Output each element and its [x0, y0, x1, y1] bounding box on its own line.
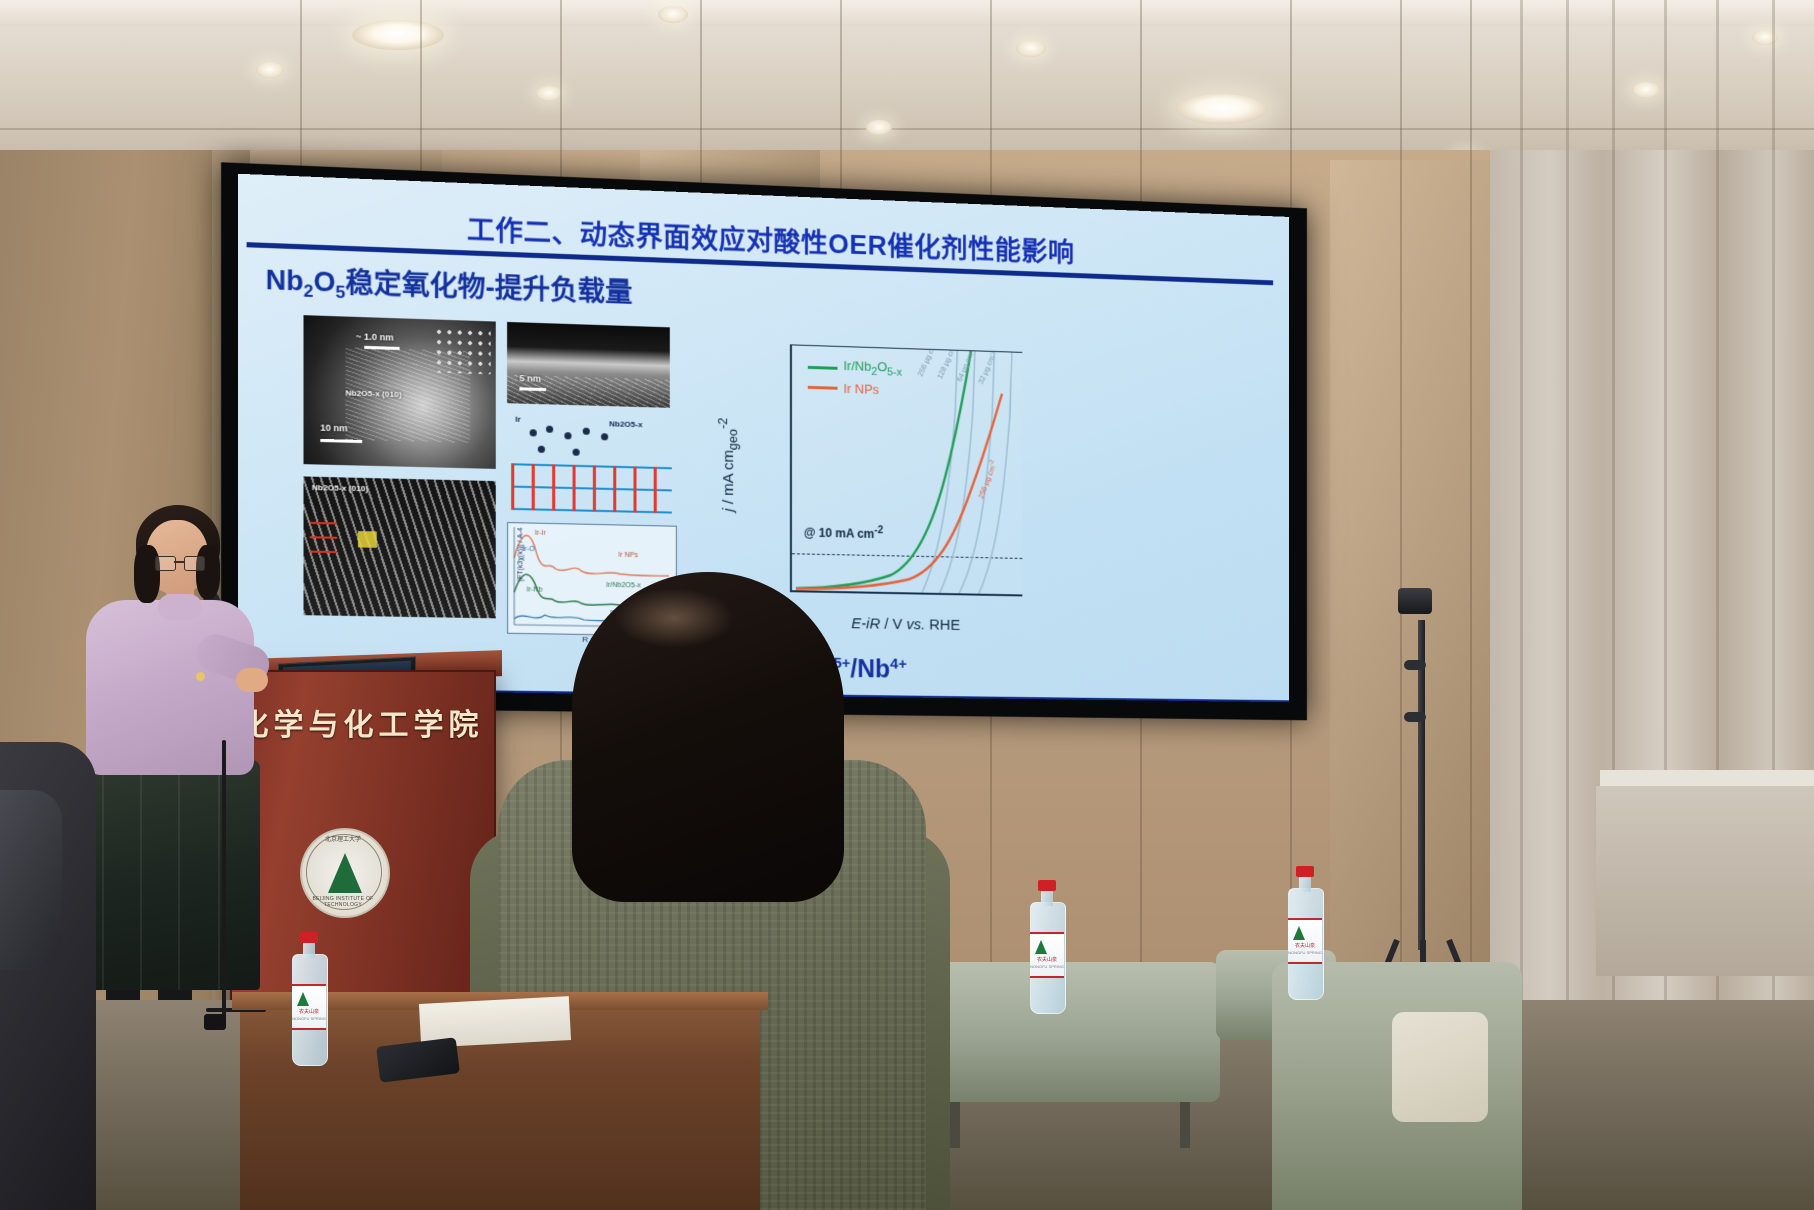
- edge-person-arm: [0, 790, 62, 970]
- ylabel-units: / mA cm: [720, 450, 737, 509]
- slide-subtitle: Nb2O5稳定氧化物-提升负载量: [266, 257, 633, 313]
- tem-image-3: Nb2O5-x (010): [304, 476, 496, 618]
- podium-emblem-cn-text: 北京理工大学: [300, 834, 386, 843]
- chart-ylabel: j / mA cmgeo-2: [716, 417, 740, 512]
- speaker-sweater: [86, 600, 254, 775]
- tem3-phase-label: Nb2O5-x (010): [312, 483, 368, 494]
- tem-image-1: ~ 1.0 nm Nb2O5-x (010) 10 nm: [304, 315, 496, 469]
- bottle-brand-en: NONGFU SPRING: [1030, 964, 1064, 969]
- bottle-label: 农夫山泉 NONGFU SPRING: [292, 984, 326, 1030]
- tem1-phase-label: Nb2O5-x (010): [345, 388, 401, 399]
- speaker-skirt: [74, 760, 260, 990]
- podium-emblem-en-text: BEIJING INSTITUTE OF TECHNOLOGY: [296, 896, 390, 908]
- speaker-brooch: [196, 672, 205, 681]
- bottle-label: 农夫山泉 NONGFU SPRING: [1030, 932, 1064, 978]
- conference-room-photo: 工作二、动态界面效应对酸性OER催化剂性能影响 Nb2O5稳定氧化物-提升负载量…: [0, 0, 1814, 1210]
- ceiling-band: [0, 0, 1814, 26]
- tem2-scale-label: 5 nm: [519, 373, 541, 384]
- speaker-hand: [236, 668, 268, 692]
- subtitle-o: O: [313, 266, 335, 298]
- subtitle-sub-5: 5: [335, 283, 345, 303]
- bottle-brand-en: NONGFU SPRING: [292, 1016, 326, 1021]
- ceiling-light: [1176, 94, 1268, 124]
- speaker-hair-side-left: [134, 545, 160, 603]
- speaker-glasses: [155, 556, 203, 569]
- bench-seat: [920, 962, 1220, 1102]
- bottle-brand-cn: 农夫山泉: [292, 1008, 326, 1015]
- ceiling-light: [1632, 82, 1660, 98]
- tem1-scale-label: 10 nm: [320, 422, 347, 433]
- ceiling-light: [658, 6, 688, 23]
- tem-image-2: 5 nm: [507, 322, 670, 408]
- atomic-structure-model: Ir Nb2O5-x: [511, 414, 674, 519]
- mountain-icon: [1293, 926, 1305, 940]
- audience-hair-highlight: [614, 588, 734, 648]
- window-lower: [1596, 786, 1814, 976]
- camera-mount-head: [1398, 588, 1432, 614]
- bottle-cap: [1038, 880, 1056, 891]
- ylabel-subscript: geo: [726, 429, 740, 450]
- scalebar-10nm: [320, 439, 362, 443]
- speaker-hair-side-right: [196, 545, 220, 599]
- bottle-cap: [300, 932, 318, 943]
- exafs-series-ir-nps: Ir NPs: [618, 552, 638, 559]
- bottle-brand-cn: 农夫山泉: [1288, 942, 1322, 949]
- cable: [222, 740, 226, 1020]
- model-label-ir: Ir: [515, 415, 520, 424]
- fft-diffraction-pattern: [437, 330, 491, 374]
- exafs-peak-ir-ir: Ir-Ir: [535, 530, 546, 537]
- highlight-marker: [358, 531, 377, 548]
- tem1-thickness-label: ~ 1.0 nm: [356, 331, 394, 342]
- exafs-series-ir-nb2o5x: Ir/Nb2O5-x: [606, 582, 641, 590]
- window-sill: [1600, 770, 1814, 786]
- bottle-label: 农夫山泉 NONGFU SPRING: [1288, 918, 1322, 964]
- chart-xlabel: E-iR / V vs. RHE: [790, 614, 1020, 635]
- subtitle-nb: Nb: [266, 264, 304, 296]
- bottle-cap: [1296, 866, 1314, 877]
- speaker-turtleneck-collar: [158, 594, 202, 620]
- ceiling-light: [536, 86, 562, 101]
- ceiling-light: [256, 62, 284, 78]
- bottle-brand-en: NONGFU SPRING: [1288, 950, 1322, 955]
- ceiling-light: [1016, 40, 1046, 57]
- mech-sup-4: 4+: [890, 655, 907, 672]
- mech-slash: /Nb: [850, 655, 890, 683]
- ceiling-light: [866, 120, 892, 135]
- tripod-knob: [1404, 712, 1426, 722]
- lattice-mesh: [511, 463, 672, 513]
- exafs-peak-ir-nb: Ir-Nb: [527, 586, 543, 593]
- exafs-ylabel: |FT(k3χ(k))| / A-4: [517, 527, 524, 581]
- mountain-icon: [1035, 940, 1047, 954]
- chart-plot-area: 45 30 15 0 1.39 1.44 1.49 1.54 Ir/Nb2O5-…: [790, 344, 1022, 596]
- subtitle-tail: 稳定氧化物-提升负载量: [345, 267, 632, 308]
- model-label-nb2o5x: Nb2O5-x: [609, 419, 642, 429]
- ceiling-seam: [0, 128, 1814, 130]
- cable-connector: [204, 1014, 226, 1030]
- tripod-knob: [1404, 660, 1426, 670]
- mountain-icon: [297, 992, 309, 1006]
- bottle-brand-cn: 农夫山泉: [1030, 956, 1064, 963]
- chair-cushion: [1392, 1012, 1488, 1122]
- subtitle-sub-2: 2: [304, 282, 314, 302]
- ceiling-light: [352, 20, 444, 50]
- podium-department-text: 化学与化工学院: [236, 700, 486, 744]
- ylabel-superscript: -2: [716, 417, 730, 429]
